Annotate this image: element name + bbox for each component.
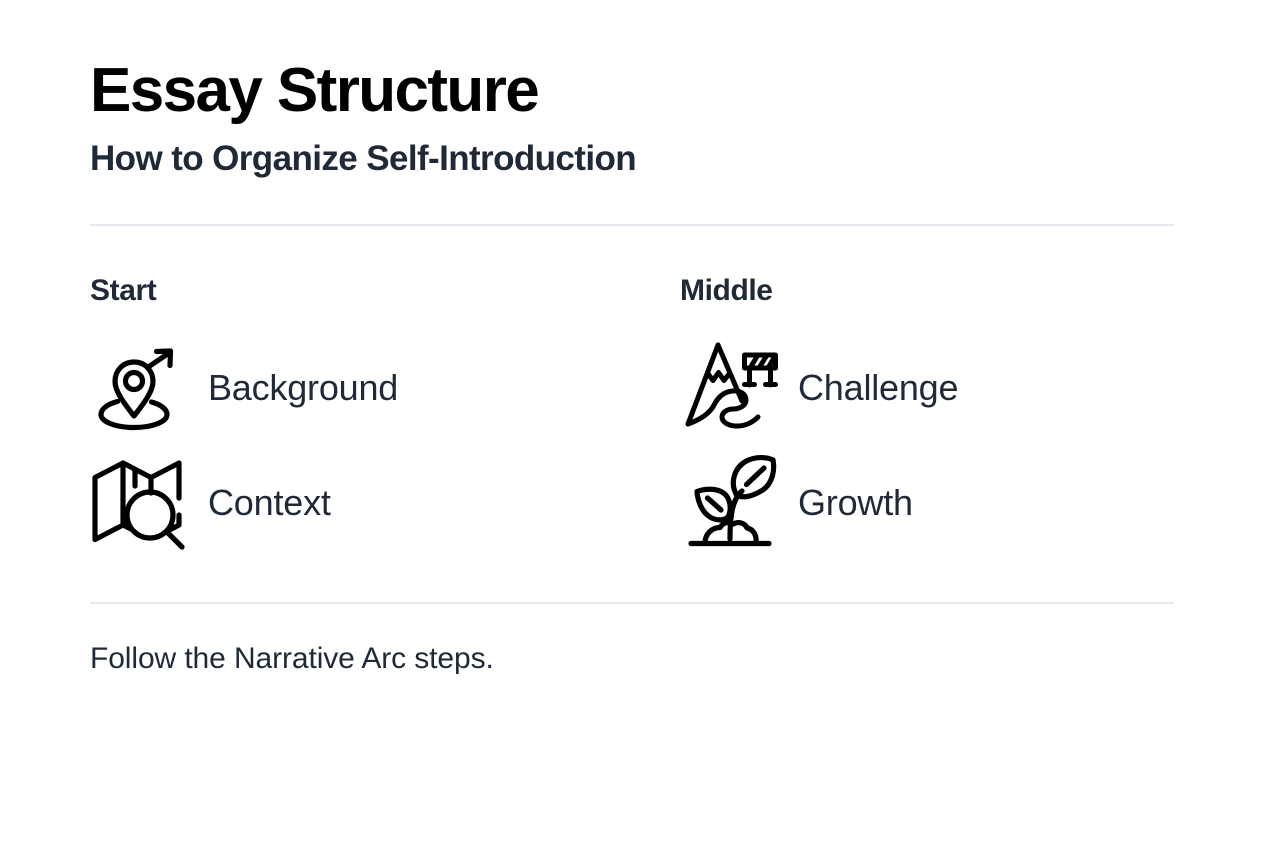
page-subtitle: How to Organize Self-Introduction <box>90 139 1174 179</box>
column-start-title: Start <box>90 274 680 308</box>
list-item-label: Challenge <box>798 367 958 409</box>
footer-note: Follow the Narrative Arc steps. <box>90 642 1174 676</box>
list-item[interactable]: Background <box>90 330 680 445</box>
list-item[interactable]: Context <box>90 445 680 560</box>
list-item-label: Context <box>208 482 331 524</box>
page-title: Essay Structure <box>90 58 1174 125</box>
list-item-label: Background <box>208 367 398 409</box>
essay-structure-card: Essay Structure How to Organize Self-Int… <box>0 0 1264 848</box>
map-search-icon <box>90 453 208 553</box>
location-pin-arrow-icon <box>90 340 208 436</box>
column-start: Start Background <box>90 274 680 560</box>
column-middle: Middle Challenge <box>680 274 1264 560</box>
column-middle-title: Middle <box>680 274 1264 308</box>
card-footer: Follow the Narrative Arc steps. <box>90 604 1174 676</box>
card-header: Essay Structure How to Organize Self-Int… <box>90 0 1174 179</box>
list-item[interactable]: Challenge <box>680 330 1264 445</box>
list-item-label: Growth <box>798 482 913 524</box>
structure-columns: Start Background <box>90 226 1174 602</box>
mountain-roadblock-icon <box>680 339 798 437</box>
sprout-seedling-icon <box>680 451 798 555</box>
list-item[interactable]: Growth <box>680 445 1264 560</box>
